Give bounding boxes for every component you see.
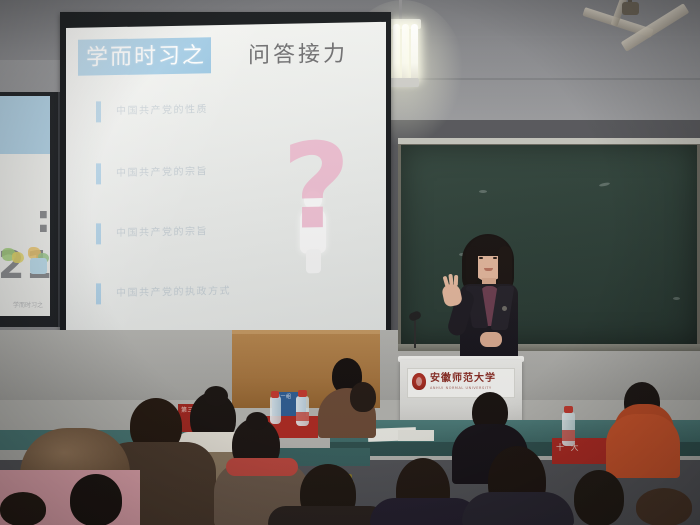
projection-screen: 学而时习之 问答接力 中国共产党的性质 中国共产党的宗旨 中国共产党的宗旨 中国… (66, 22, 386, 339)
fan-hub (622, 2, 639, 15)
fluorescent-tube (402, 24, 409, 80)
presenter-eye (479, 257, 483, 259)
bullet-marker (96, 101, 101, 122)
side-screen-caption: 学而时习之 (6, 300, 50, 310)
chalk-mark (673, 297, 680, 300)
slide-title-sub: 问答接力 (248, 40, 348, 71)
bullet-label: 中国共产党的执政方式 (116, 283, 231, 302)
audience-head (70, 474, 122, 525)
bottle-cap (271, 391, 279, 398)
audience-scarf (226, 458, 298, 476)
bullet-label: 中国共产党的性质 (116, 101, 208, 120)
water-bottle (270, 396, 281, 424)
audience-body (606, 414, 680, 478)
bullet-marker (96, 163, 101, 184)
presenter-hair-left (466, 246, 478, 284)
bullet-label: 中国共产党的宗旨 (116, 223, 208, 242)
ceiling-fan-icon (560, 2, 690, 62)
bottle-label (296, 412, 309, 421)
presenter-eye (493, 257, 497, 259)
chalkboard-top-trim (398, 138, 700, 144)
audience-body (462, 492, 574, 525)
bullet-label: 中国共产党的宗旨 (116, 163, 208, 182)
bottle-label (562, 430, 575, 441)
audience-hair-bun (246, 412, 268, 430)
papers-on-desk (398, 430, 434, 441)
university-name-english: ANHUI NORMAL UNIVERSITY (430, 385, 512, 391)
audience-hair-bun (204, 386, 228, 406)
bullet-marker (96, 223, 101, 244)
audience-head (350, 382, 376, 412)
microphone-stand (414, 318, 416, 348)
chalk-mark (599, 182, 610, 187)
bottle-cap (564, 406, 573, 413)
bottle-cap (298, 390, 307, 397)
fluorescent-tube (393, 24, 400, 80)
bullet-marker (96, 283, 101, 304)
slide-title-main: 学而时习之 (86, 41, 210, 72)
presenter-badge-pin (502, 306, 507, 311)
slide-bullet-item: 中国共产党的执政方式 (96, 279, 326, 305)
audience-head (636, 488, 692, 525)
presenter-resting-hands (480, 332, 502, 347)
wooden-panel-edge (232, 330, 380, 334)
university-name: 安徽师范大学 (430, 372, 510, 385)
audience-head (0, 492, 46, 525)
classroom-lecture-photo: : 21 学而时习之 学而时习之 问答接力 中国共产党的性质 中国共产党的宗旨 … (0, 0, 700, 525)
university-logo-inner (416, 377, 422, 386)
chalk-mark (479, 190, 487, 193)
decoration-block (30, 258, 47, 274)
decoration-leaf (12, 252, 24, 263)
water-bottle (296, 396, 309, 426)
fluorescent-tube (411, 24, 418, 80)
side-screen-timer: : 21 (0, 196, 52, 242)
side-screen-banner (0, 96, 50, 154)
audience-head (574, 470, 624, 525)
presenter-person (440, 232, 545, 364)
question-mark-icon: ? (282, 127, 350, 246)
